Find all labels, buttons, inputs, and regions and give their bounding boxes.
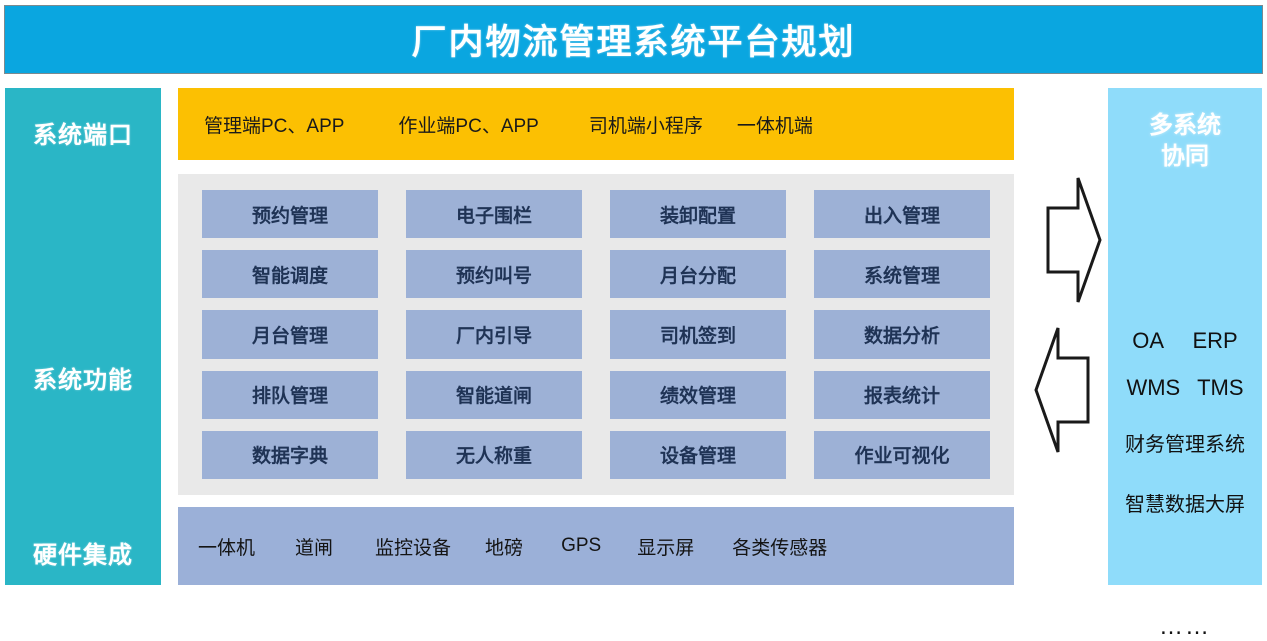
sidebar-item-system-ports: 系统端口 <box>7 115 159 150</box>
function-cell[interactable]: 厂内引导 <box>406 310 582 358</box>
right-panel-title-line1: 多系统 <box>1108 110 1262 141</box>
function-cell[interactable]: 数据分析 <box>814 310 990 358</box>
page-title: 厂内物流管理系统平台规划 <box>411 14 855 65</box>
external-system-data-dashboard[interactable]: 智慧数据大屏 <box>1108 488 1262 517</box>
function-cell[interactable]: 设备管理 <box>610 431 786 479</box>
function-cell[interactable]: 报表统计 <box>814 371 990 419</box>
function-cell[interactable]: 系统管理 <box>814 250 990 298</box>
function-cell[interactable]: 智能调度 <box>202 250 378 298</box>
hardware-item-display-screen[interactable]: 显示屏 <box>637 533 694 560</box>
external-system-oa[interactable]: OA <box>1132 328 1164 354</box>
function-cell[interactable]: 司机签到 <box>610 310 786 358</box>
function-cell[interactable]: 预约叫号 <box>406 250 582 298</box>
external-system-tms[interactable]: TMS <box>1197 375 1243 401</box>
function-grid: 预约管理 电子围栏 装卸配置 出入管理 智能调度 预约叫号 月台分配 系统管理 … <box>202 190 990 479</box>
system-functions-panel: 预约管理 电子围栏 装卸配置 出入管理 智能调度 预约叫号 月台分配 系统管理 … <box>178 174 1014 495</box>
function-cell[interactable]: 月台管理 <box>202 310 378 358</box>
hardware-item-kiosk[interactable]: 一体机 <box>198 533 255 560</box>
function-cell[interactable]: 排队管理 <box>202 371 378 419</box>
page-title-banner: 厂内物流管理系统平台规划 <box>4 5 1263 74</box>
external-system-finance[interactable]: 财务管理系统 <box>1108 428 1262 457</box>
hardware-item-surveillance[interactable]: 监控设备 <box>375 533 451 560</box>
multi-system-collaboration-panel: 多系统 协同 OA ERP WMS TMS 财务管理系统 智慧数据大屏 …… <box>1108 88 1262 585</box>
function-cell[interactable]: 作业可视化 <box>814 431 990 479</box>
function-cell[interactable]: 绩效管理 <box>610 371 786 419</box>
external-system-row-2: WMS TMS <box>1108 375 1262 401</box>
hardware-item-barrier-gate[interactable]: 道闸 <box>295 533 333 560</box>
external-system-wms[interactable]: WMS <box>1126 375 1180 401</box>
port-item-admin-pc-app[interactable]: 管理端PC、APP <box>204 111 344 138</box>
function-cell[interactable]: 月台分配 <box>610 250 786 298</box>
system-ports-bar: 管理端PC、APP 作业端PC、APP 司机端小程序 一体机端 <box>178 88 1014 160</box>
category-sidebar: 系统端口 系统功能 硬件集成 <box>5 88 161 585</box>
sidebar-item-system-functions: 系统功能 <box>7 360 159 395</box>
port-item-kiosk-terminal[interactable]: 一体机端 <box>737 111 813 138</box>
hardware-item-sensors[interactable]: 各类传感器 <box>732 533 827 560</box>
function-cell[interactable]: 数据字典 <box>202 431 378 479</box>
hardware-integration-bar: 一体机 道闸 监控设备 地磅 GPS 显示屏 各类传感器 <box>178 507 1014 585</box>
external-system-row-1: OA ERP <box>1108 328 1262 354</box>
external-system-erp[interactable]: ERP <box>1193 328 1238 354</box>
arrow-left-icon <box>1030 320 1106 460</box>
sidebar-item-hardware-integration: 硬件集成 <box>7 535 159 570</box>
port-item-operation-pc-app[interactable]: 作业端PC、APP <box>398 111 538 138</box>
external-system-more-ellipsis: …… <box>1108 613 1262 641</box>
hardware-item-weighbridge[interactable]: 地磅 <box>485 533 523 560</box>
function-cell[interactable]: 无人称重 <box>406 431 582 479</box>
right-panel-title-line2: 协同 <box>1108 141 1262 172</box>
function-cell[interactable]: 预约管理 <box>202 190 378 238</box>
hardware-item-gps[interactable]: GPS <box>561 535 601 557</box>
right-panel-title: 多系统 协同 <box>1108 110 1262 172</box>
function-cell[interactable]: 智能道闸 <box>406 371 582 419</box>
main-content-column: 管理端PC、APP 作业端PC、APP 司机端小程序 一体机端 预约管理 电子围… <box>178 88 1014 585</box>
port-item-driver-miniprogram[interactable]: 司机端小程序 <box>589 111 703 138</box>
function-cell[interactable]: 装卸配置 <box>610 190 786 238</box>
integration-arrows <box>1030 170 1106 460</box>
function-cell[interactable]: 出入管理 <box>814 190 990 238</box>
arrow-right-icon <box>1030 170 1106 310</box>
function-cell[interactable]: 电子围栏 <box>406 190 582 238</box>
